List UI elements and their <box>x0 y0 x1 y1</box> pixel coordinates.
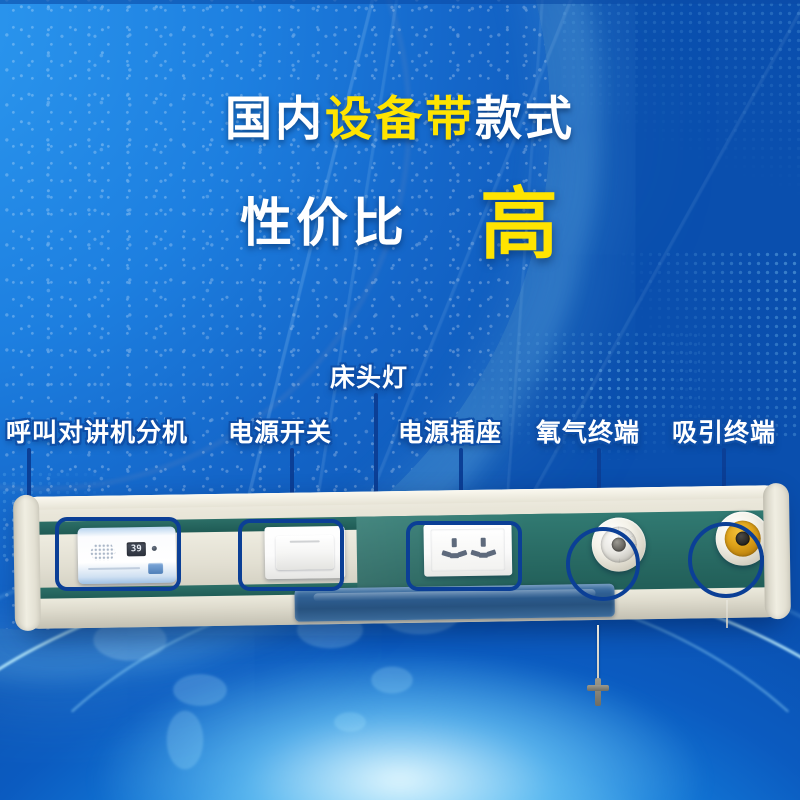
socket-slot-top-icon <box>452 538 457 547</box>
speaker-grille-icon <box>90 544 116 561</box>
cord-handle-crossbar <box>587 685 609 691</box>
callout-label-bedlamp: 床头灯 <box>330 358 408 394</box>
headline-part2: 款式 <box>475 92 575 145</box>
intercom-seam <box>88 567 140 570</box>
suction-terminal-port <box>736 532 750 546</box>
power-socket-unit[interactable] <box>423 523 512 576</box>
nurse-call-intercom-unit[interactable]: 39 <box>77 527 176 585</box>
power-switch-unit[interactable] <box>264 526 345 579</box>
panel-end-cap-right <box>763 483 791 619</box>
panel-end-cap-left <box>13 495 41 631</box>
subtitle-emphasis: 高 <box>480 162 560 274</box>
callout-label-intercom: 呼叫对讲机分机 <box>6 413 188 449</box>
intercom-display: 39 <box>127 542 146 556</box>
page-title: 国内设备带款式 <box>0 80 800 149</box>
bed-lamp-diffuser <box>294 584 614 622</box>
socket-slot-mid-icon <box>450 553 459 558</box>
poster-canvas: 国内设备带款式 性价比高 呼叫对讲机分机 电源开关 床头灯 电源插座 氧气终端 … <box>0 0 800 800</box>
callout-label-oxygen: 氧气终端 <box>536 413 640 449</box>
socket-outlet-right[interactable] <box>469 538 499 564</box>
socket-slot-top-icon <box>481 538 486 547</box>
suction-terminal-cord <box>726 600 728 628</box>
pull-cord-handle[interactable] <box>587 678 609 706</box>
switch-rocker[interactable] <box>276 535 335 570</box>
bed-head-unit-panel: 39 <box>21 485 783 629</box>
page-subtitle: 性价比高 <box>0 162 800 274</box>
panel-teal-highlight <box>356 510 782 596</box>
callout-label-switch: 电源开关 <box>228 413 332 449</box>
headline-part1: 国内 <box>225 92 325 145</box>
socket-slot-mid-icon <box>479 553 488 558</box>
top-edge-line <box>0 0 800 4</box>
socket-faceplate <box>431 528 506 571</box>
panel-body: 39 <box>21 485 783 629</box>
callout-label-socket: 电源插座 <box>398 413 502 449</box>
callout-label-suction: 吸引终端 <box>672 413 776 449</box>
intercom-call-button[interactable] <box>148 563 163 574</box>
cord-handle-stem <box>595 678 601 706</box>
headline-highlight: 设备带 <box>325 92 475 145</box>
socket-outlet-left[interactable] <box>440 538 470 564</box>
subtitle-value-text: 性价比 <box>240 181 408 256</box>
status-led-icon <box>152 546 157 551</box>
